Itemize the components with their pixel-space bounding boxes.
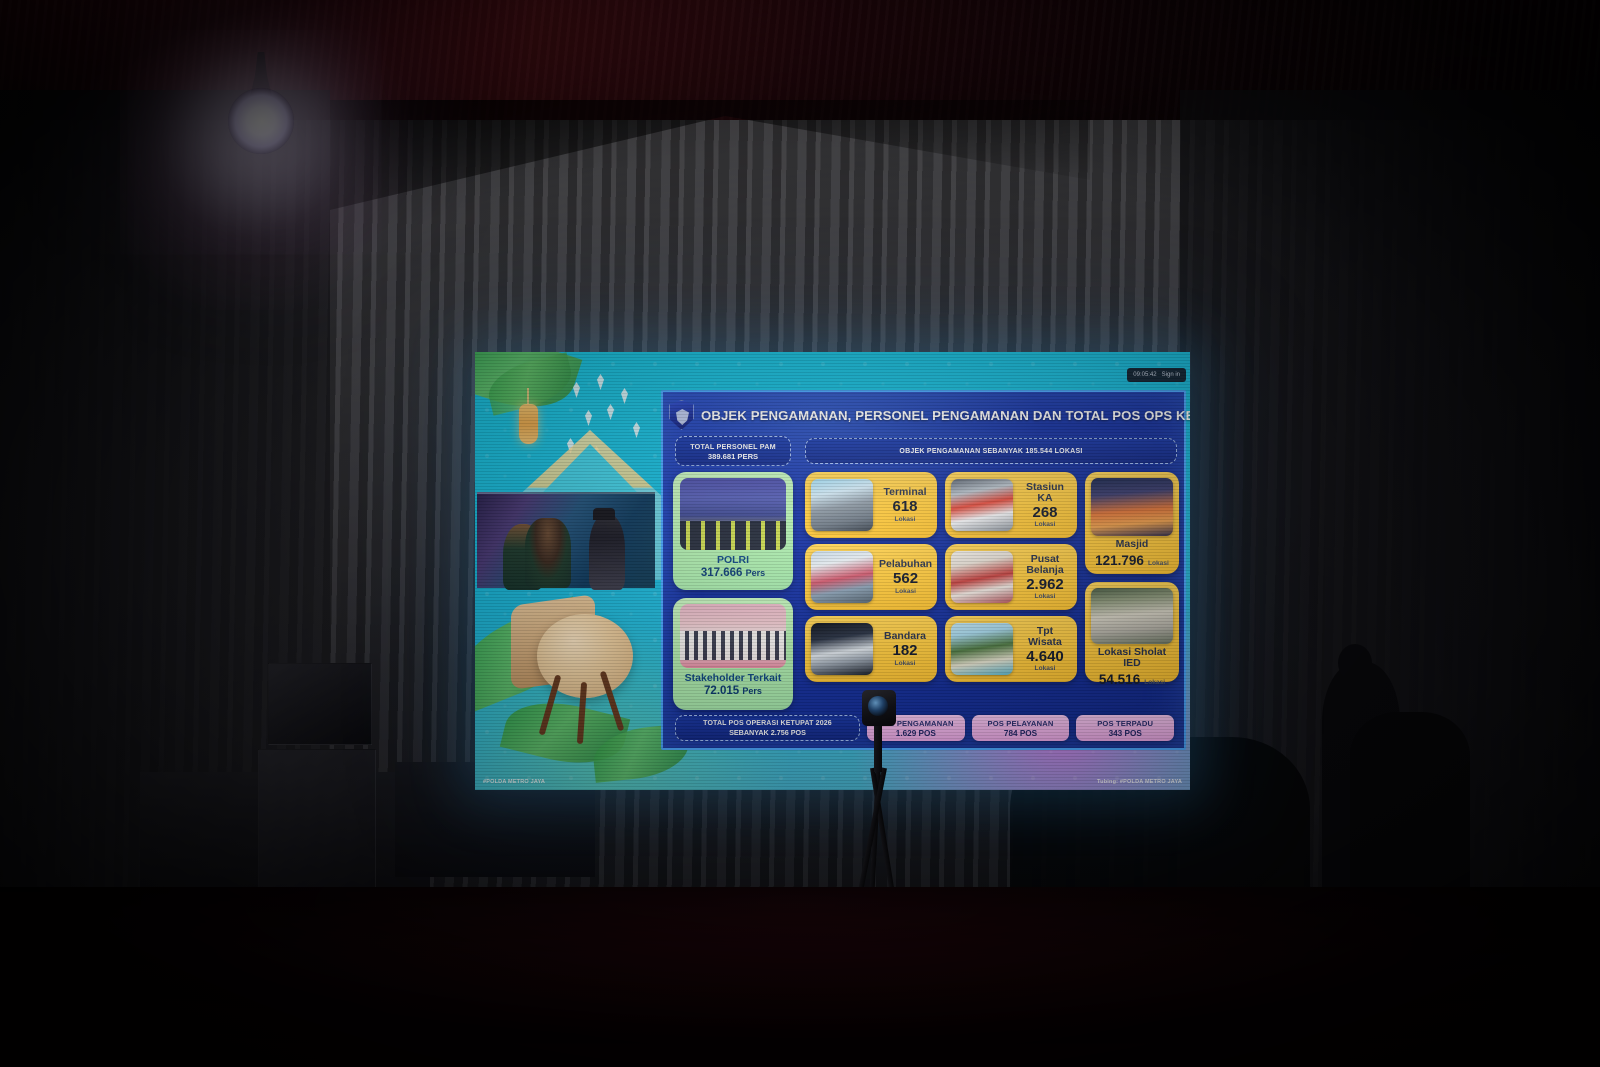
personnel-card-unit: Pers [742, 686, 762, 696]
object-card-masjid: Masjid 121.796 Lokasi [1085, 472, 1179, 574]
personnel-card-stakeholder: Stakeholder Terkait 72.015 Pers [673, 598, 793, 710]
object-card-value: 618 [892, 499, 917, 516]
airport-photo [811, 623, 873, 675]
object-card-label: Masjid [1116, 539, 1149, 550]
photo-figure-officer [503, 524, 543, 590]
watermark-right: Tubing: #POLDA METRO JAYA [1097, 779, 1182, 785]
object-card-lokasi-sholat-ied: Lokasi Sholat IED 54.516 Lokasi [1085, 582, 1179, 682]
object-card-value: 4.640 [1026, 649, 1064, 666]
object-card-value: 182 [892, 643, 917, 660]
object-card-label: Tpt Wisata [1019, 626, 1071, 648]
stakeholder-formation-photo [680, 604, 786, 668]
personnel-card-value: 72.015 Pers [704, 685, 762, 697]
tourist-site-photo [951, 623, 1013, 675]
object-card-unit: Lokasi [1144, 679, 1165, 686]
podium-photo-inset [477, 492, 655, 588]
object-card-unit: Lokasi [1035, 521, 1056, 528]
object-card-pelabuhan: Pelabuhan 562 Lokasi [805, 544, 937, 610]
object-card-value: 268 [1032, 505, 1057, 522]
object-card-value: 2.962 [1026, 577, 1064, 594]
object-card-value: 562 [893, 571, 918, 588]
personnel-card-label: POLRI [717, 554, 749, 566]
sign-in-button[interactable]: Sign in [1162, 371, 1180, 379]
object-card-unit: Lokasi [895, 516, 916, 523]
objects-summary-label: OBJEK PENGAMANAN SEBANYAK 185.544 LOKASI [899, 448, 1082, 455]
total-personnel-label: TOTAL PERSONEL PAM [690, 442, 776, 451]
train-station-photo [951, 479, 1013, 531]
object-card-terminal: Terminal 618 Lokasi [805, 472, 937, 538]
pos-chip-label: POS PELAYANAN [988, 719, 1054, 728]
audience-silhouette-seated [1350, 712, 1470, 912]
personnel-card-value: 317.666 Pers [701, 567, 765, 579]
object-card-tpt-wisata: Tpt Wisata 4.640 Lokasi [945, 616, 1077, 682]
pos-chip-terpadu: POS TERPADU 343 POS [1076, 715, 1174, 741]
object-card-bandara: Bandara 182 Lokasi [805, 616, 937, 682]
watermark-left: #POLDA METRO JAYA [483, 779, 545, 785]
object-card-label: Stasiun KA [1019, 482, 1071, 504]
stage-floor-shadow [0, 887, 1600, 1067]
tripod-center-column [874, 724, 882, 772]
bus-terminal-photo [811, 479, 873, 531]
spotlight-lamp [228, 88, 294, 154]
photo-figure-official [589, 514, 625, 590]
total-pos-label: TOTAL POS OPERASI KETUPAT 2026 [703, 720, 832, 727]
object-card-value: 121.796 [1095, 554, 1144, 569]
personnel-card-label: Stakeholder Terkait [685, 672, 782, 684]
total-personnel-value: 389.681 PERS [708, 452, 758, 461]
stage-room: 09:05:42 Sign in OBJEK PENGAMANAN, PERSO… [0, 0, 1600, 1067]
objects-summary-chip: OBJEK PENGAMANAN SEBANYAK 185.544 LOKASI [805, 438, 1177, 464]
object-card-unit: Lokasi [895, 660, 916, 667]
object-card-label: Terminal [884, 487, 927, 498]
object-card-stasiun-ka: Stasiun KA 268 Lokasi [945, 472, 1077, 538]
polri-formation-photo [680, 478, 786, 550]
mosque-photo [1091, 478, 1173, 536]
object-card-unit: Lokasi [895, 588, 916, 595]
object-card-pusat-belanja: Pusat Belanja 2.962 Lokasi [945, 544, 1077, 610]
seaport-photo [811, 551, 873, 603]
object-card-unit: Lokasi [1148, 560, 1169, 567]
eid-prayer-ground-photo [1091, 588, 1173, 644]
clock-label: 09:05:42 [1133, 371, 1156, 379]
total-pos-chip: TOTAL POS OPERASI KETUPAT 2026 SEBANYAK … [675, 715, 860, 741]
browser-status-bar[interactable]: 09:05:42 Sign in [1127, 368, 1186, 382]
pos-chip-value: 343 POS [1109, 729, 1142, 738]
pos-chip-value: 1.629 POS [896, 729, 936, 738]
total-pos-row: TOTAL POS OPERASI KETUPAT 2026 SEBANYAK … [675, 714, 1174, 742]
personnel-card-unit: Pers [746, 568, 766, 578]
object-card-label: Lokasi Sholat IED [1091, 647, 1173, 669]
object-card-label: Bandara [884, 631, 926, 642]
pos-chip-label: POS TERPADU [1097, 719, 1153, 728]
personnel-card-number: 317.666 [701, 567, 743, 579]
object-card-label: Pusat Belanja [1019, 554, 1071, 576]
total-pos-value: SEBANYAK 2.756 POS [729, 728, 806, 737]
pos-chip-value: 784 POS [1004, 729, 1037, 738]
total-personnel-chip: TOTAL PERSONEL PAM 389.681 PERS [675, 436, 791, 466]
audience-silhouette-head [1338, 644, 1372, 682]
led-presentation-screen[interactable]: 09:05:42 Sign in OBJEK PENGAMANAN, PERSO… [475, 352, 1190, 790]
camera-lens-icon [868, 696, 888, 716]
polri-shield-logo-icon [669, 400, 694, 430]
page-title: OBJEK PENGAMANAN, PERSONEL PENGAMANAN DA… [701, 408, 1190, 423]
object-card-unit: Lokasi [1035, 665, 1056, 672]
pos-chip-pelayanan: POS PELAYANAN 784 POS [972, 715, 1070, 741]
object-card-value: 54.516 [1099, 673, 1140, 688]
object-card-unit: Lokasi [1035, 593, 1056, 600]
slide-content-panel: OBJEK PENGAMANAN, PERSONEL PENGAMANAN DA… [661, 390, 1186, 750]
slide-header: OBJEK PENGAMANAN, PERSONEL PENGAMANAN DA… [669, 398, 1178, 432]
shopping-center-photo [951, 551, 1013, 603]
personnel-card-polri: POLRI 317.666 Pers [673, 472, 793, 590]
photo-figure-official-cap [593, 508, 615, 520]
object-card-label: Pelabuhan [879, 559, 932, 570]
speaker-cabinet-upper [268, 663, 372, 745]
lantern-icon [519, 404, 538, 444]
personnel-card-number: 72.015 [704, 685, 739, 697]
